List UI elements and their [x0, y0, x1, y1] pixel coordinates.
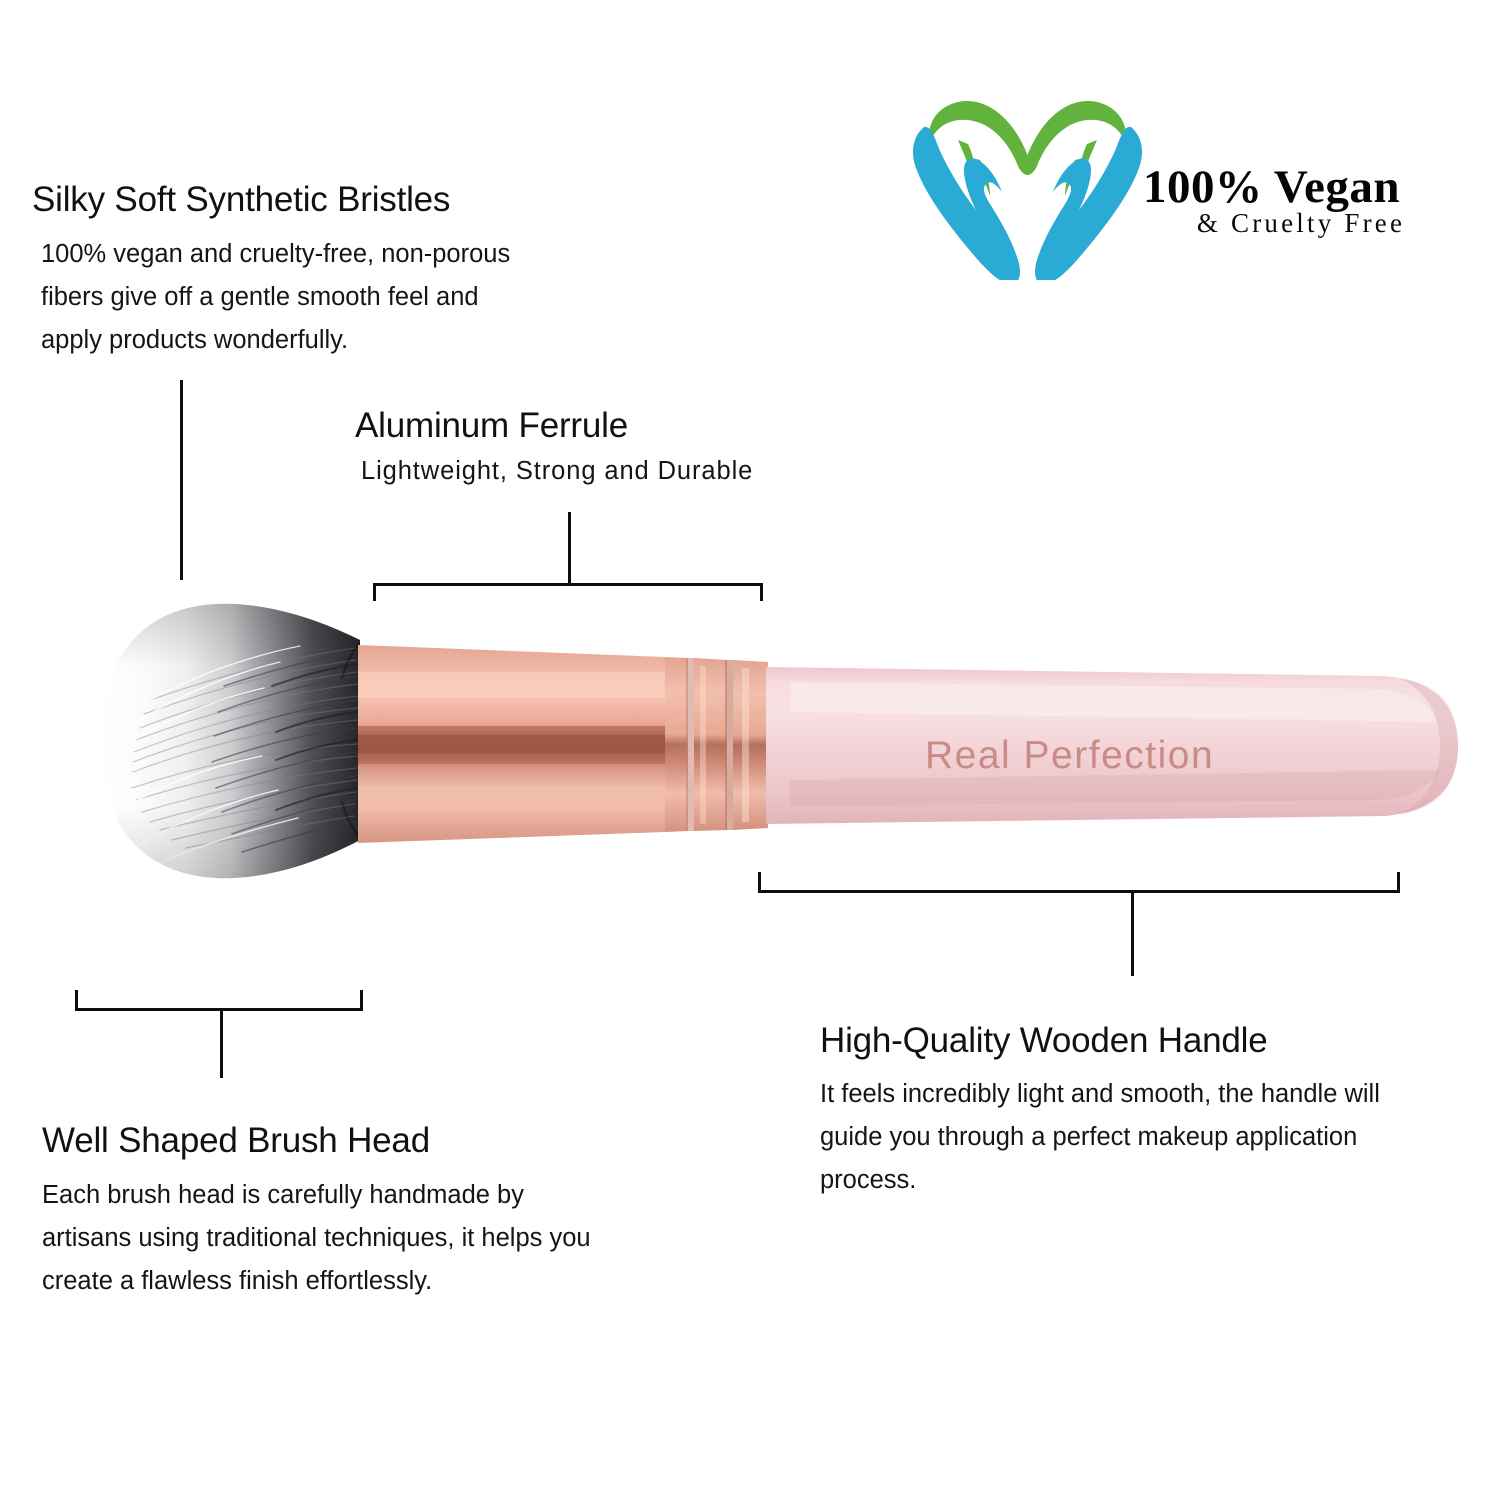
callout-handle: High-Quality Wooden Handle It feels incr… [820, 1018, 1380, 1202]
callout-brush-head-title: Well Shaped Brush Head [42, 1118, 591, 1164]
leader-stem-brush-head [220, 1008, 223, 1078]
callout-handle-title: High-Quality Wooden Handle [820, 1018, 1380, 1064]
callout-handle-body-line-1: It feels incredibly light and smooth, th… [820, 1073, 1380, 1116]
callout-handle-body-line-2: guide you through a perfect makeup appli… [820, 1116, 1380, 1159]
brand-text-on-handle: Real Perfection [925, 734, 1214, 777]
callout-brush-head-body: Each brush head is carefully handmade by… [42, 1174, 591, 1303]
leader-stem-handle [1131, 890, 1134, 976]
callout-brush-head-body-line-3: create a flawless finish effortlessly. [42, 1260, 591, 1303]
leader-bracket-handle [758, 890, 1400, 893]
callout-brush-head-body-line-2: artisans using traditional techniques, i… [42, 1217, 591, 1260]
leader-tick-brush-head-right [360, 990, 363, 1011]
leader-tick-handle-left [758, 872, 761, 893]
infographic-page: 100% Vegan & Cruelty Free Silky Soft Syn… [0, 0, 1500, 1500]
leader-tick-brush-head-left [75, 990, 78, 1011]
brush-head-bristles [90, 590, 380, 900]
brush-ferrule [355, 645, 768, 843]
callout-brush-head: Well Shaped Brush Head Each brush head i… [42, 1118, 591, 1303]
leader-bracket-brush-head [75, 1008, 363, 1011]
callout-handle-body-line-3: process. [820, 1159, 1380, 1202]
callout-handle-body: It feels incredibly light and smooth, th… [820, 1073, 1380, 1202]
callout-brush-head-body-line-1: Each brush head is carefully handmade by [42, 1174, 591, 1217]
leader-tick-handle-right [1397, 872, 1400, 893]
